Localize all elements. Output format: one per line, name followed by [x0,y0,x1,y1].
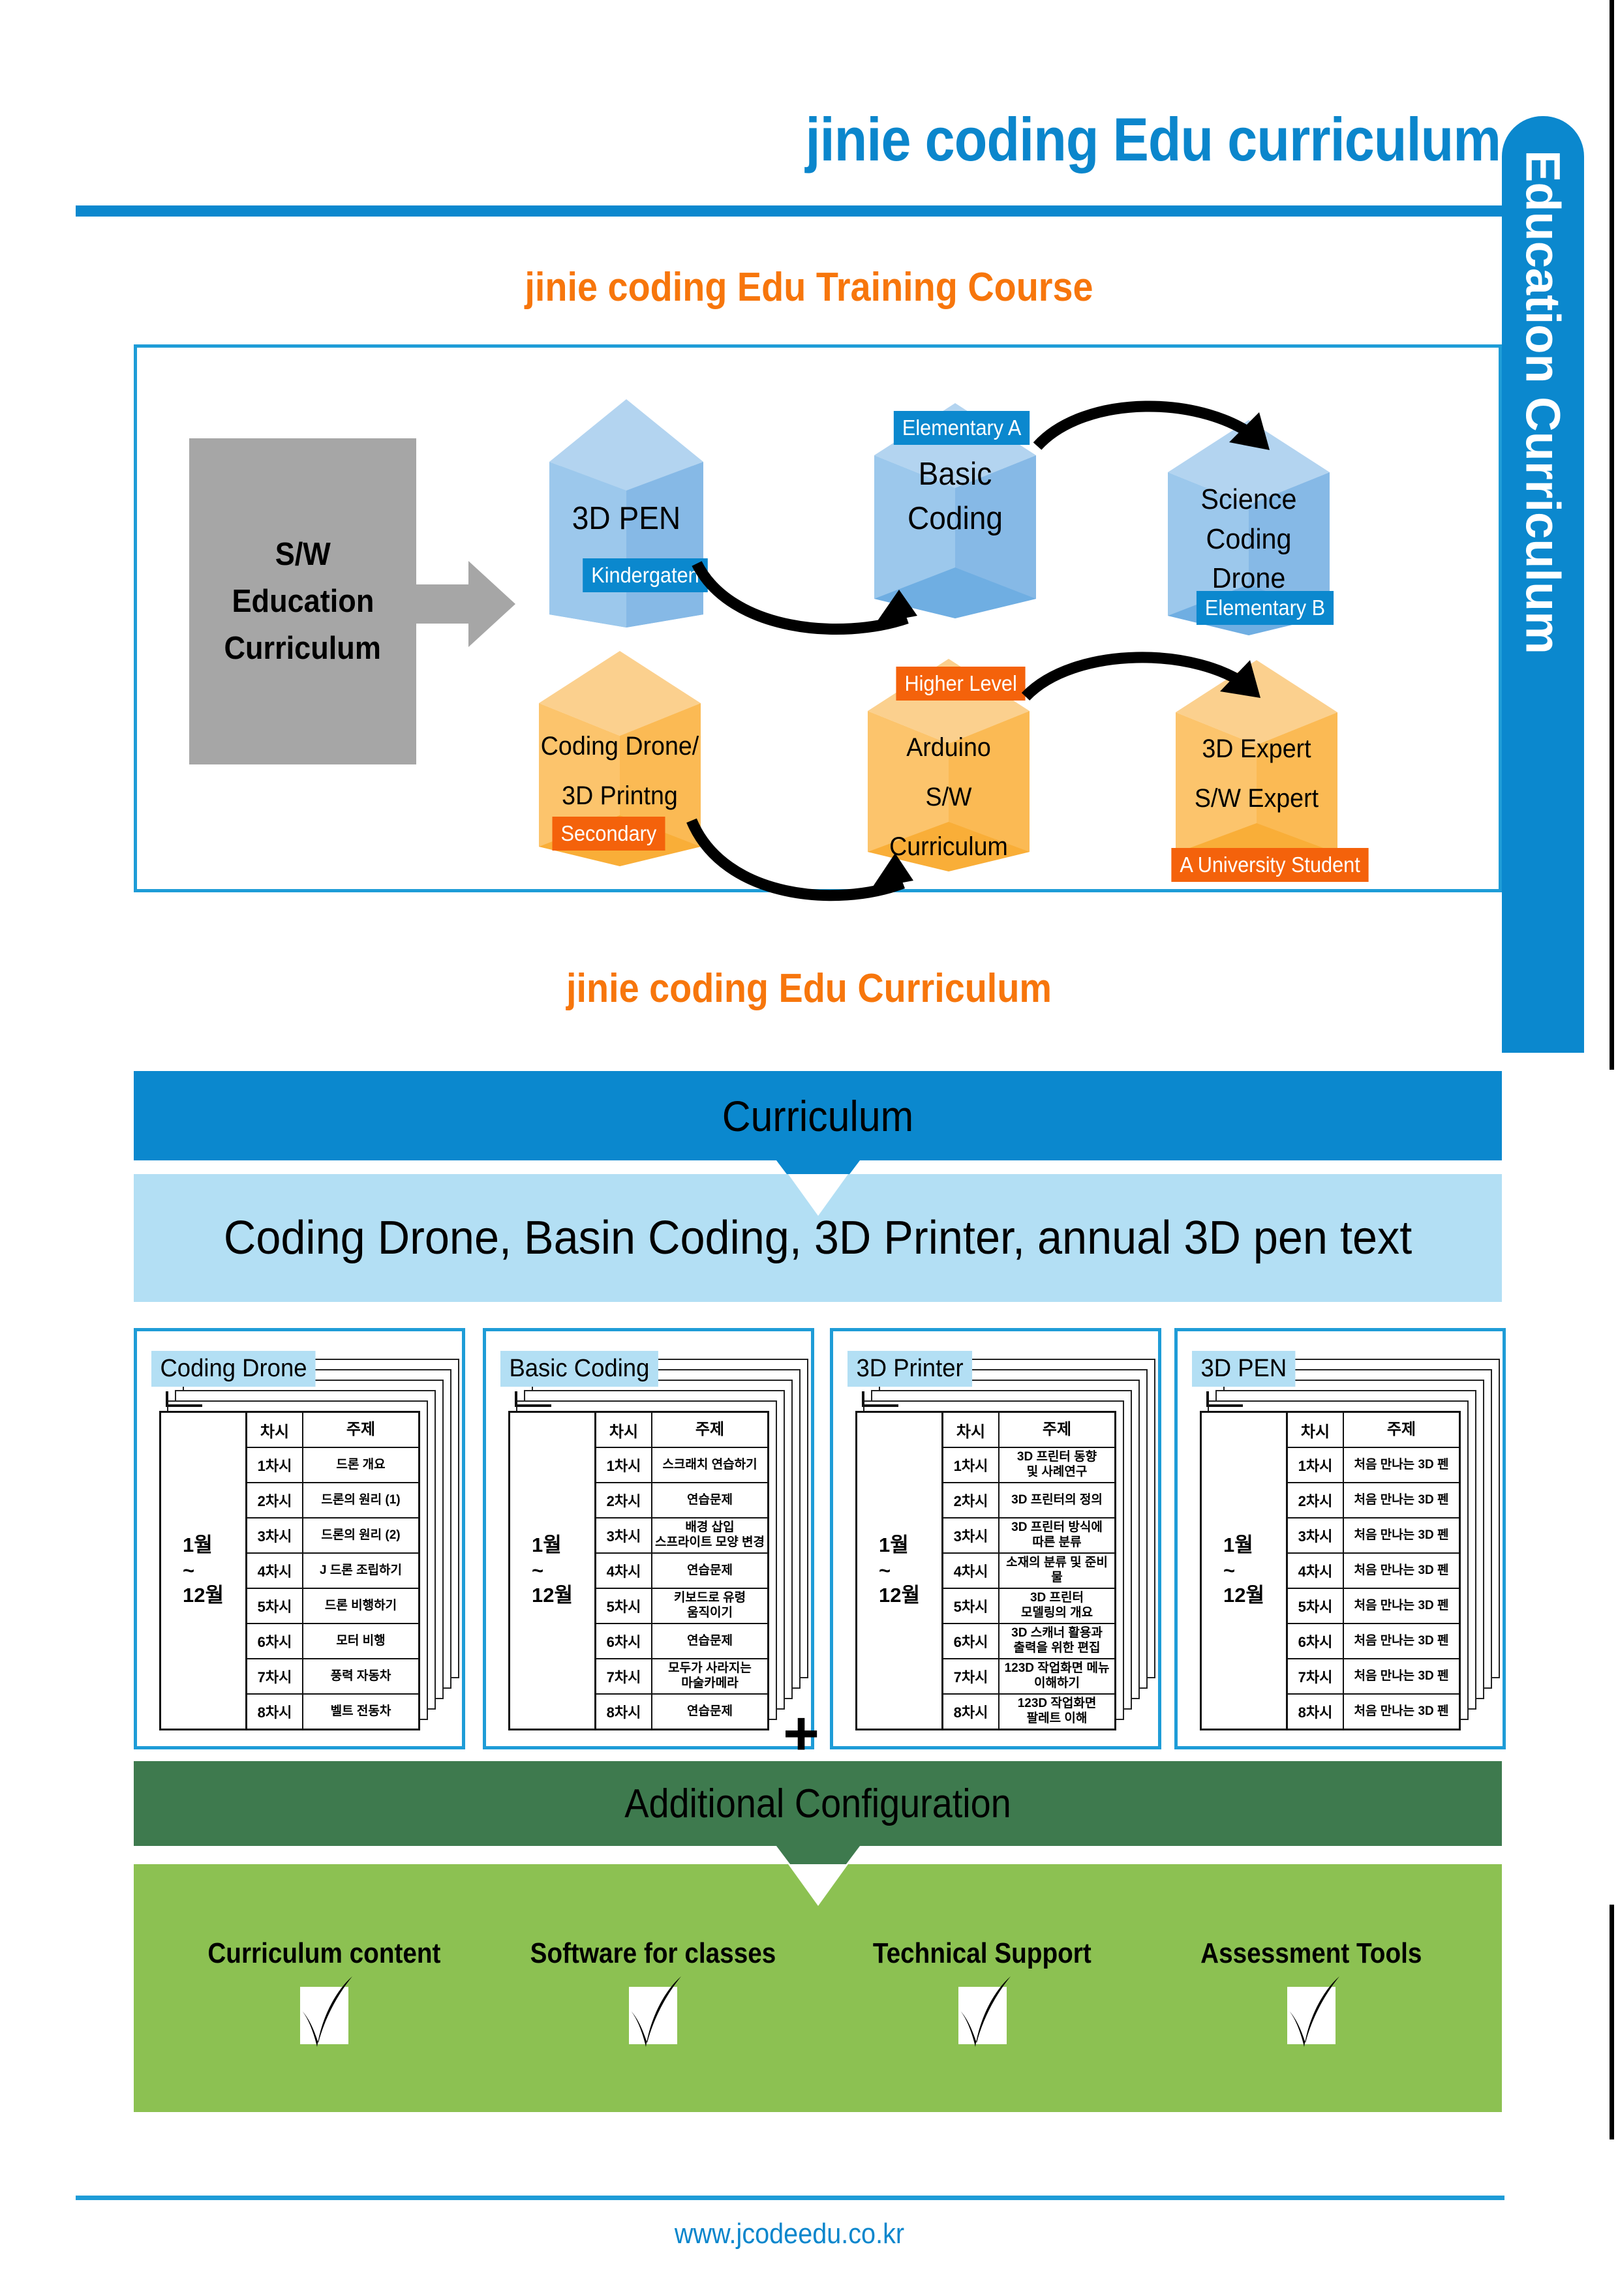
node-expert-title: 3D Expert S/W Expert [1174,724,1339,823]
cell-session: 5차시 [596,1589,652,1623]
additional-config-banner: Additional Configuration [134,1761,1502,1846]
cell-topic: 드론의 원리 (2) [303,1518,418,1552]
cell-session: 8차시 [247,1695,303,1729]
cell-session: 3차시 [596,1518,652,1552]
table-header-row: 차시 주제 [247,1413,418,1448]
column-header-topic: 주제 [652,1413,767,1447]
check-icon [1278,1975,1346,2053]
table-row: 1차시 드론 개요 [247,1448,418,1483]
cell-topic: 연습문제 [652,1483,767,1517]
cell-session: 2차시 [943,1483,1000,1517]
checkbox[interactable] [1287,1987,1336,2044]
card-title: 3D PEN [1192,1351,1296,1387]
feature-item[interactable]: Technical Support [826,1937,1139,2044]
cell-topic: 드론 비행하기 [303,1589,418,1623]
card-sheet: 1월~12월 차시 주제 1차시 처음 만나는 3D 펜 2차시 처음 만나는 … [1200,1411,1461,1730]
table-row: 7차시 모두가 사라지는 마술카메라 [596,1659,767,1695]
table-row: 7차시 처음 만나는 3D 펜 [1288,1659,1459,1695]
session-table: 차시 주제 1차시 3D 프린터 동향 및 사례연구 2차시 3D 프린터의 정… [943,1413,1114,1729]
curriculum-card[interactable]: 3D Printer 1월~12월 차시 주제 1차시 3D 프린터 동향 및 … [830,1328,1161,1749]
cell-topic: 연습문제 [652,1624,767,1658]
table-row: 2차시 3D 프린터의 정의 [943,1483,1114,1518]
table-row: 5차시 드론 비행하기 [247,1589,418,1624]
card-title: Basic Coding [500,1351,658,1387]
feature-label: Curriculum content [208,1937,441,1970]
curriculum-subtitle-notch [788,1174,848,1216]
card-sheet: 1월~12월 차시 주제 1차시 3D 프린터 동향 및 사례연구 2차시 3D… [855,1411,1116,1730]
cell-topic: 처음 만나는 3D 펜 [1344,1659,1459,1693]
cell-session: 6차시 [596,1624,652,1658]
cell-session: 1차시 [943,1448,1000,1482]
table-row: 3차시 처음 만나는 3D 펜 [1288,1518,1459,1554]
sw-block-line-2: Education [232,583,374,620]
check-icon [949,1975,1017,2053]
footer-url[interactable]: www.jcodeedu.co.kr [79,2218,1500,2250]
cell-topic: 처음 만나는 3D 펜 [1344,1448,1459,1482]
header-divider [76,205,1504,217]
cell-session: 4차시 [943,1554,1000,1588]
table-row: 8차시 벨트 전동차 [247,1695,418,1729]
cell-topic: 드론 개요 [303,1448,418,1482]
cell-topic: 모두가 사라지는 마술카메라 [652,1659,767,1693]
node-basic-coding-tag: Elementary A [894,411,1030,445]
cell-session: 2차시 [247,1483,303,1517]
table-row: 2차시 처음 만나는 3D 펜 [1288,1483,1459,1518]
cell-topic: 123D 작업화면 팔레트 이해 [1000,1695,1114,1729]
cell-topic: 키보드로 유령 움직이기 [652,1589,767,1623]
cell-topic: 처음 만나는 3D 펜 [1344,1518,1459,1552]
cell-session: 1차시 [596,1448,652,1482]
cell-topic: J 드론 조립하기 [303,1554,418,1588]
table-row: 2차시 드론의 원리 (1) [247,1483,418,1518]
table-header-row: 차시 주제 [596,1413,767,1448]
table-row: 4차시 연습문제 [596,1554,767,1589]
card-sheet: 1월~12월 차시 주제 1차시 드론 개요 2차시 드론의 원리 (1) 3차… [159,1411,420,1730]
table-row: 7차시 풍력 자동차 [247,1659,418,1695]
cell-topic: 연습문제 [652,1554,767,1588]
check-icon [291,1975,359,2053]
session-table: 차시 주제 1차시 드론 개요 2차시 드론의 원리 (1) 3차시 드론의 원… [247,1413,418,1729]
cell-session: 7차시 [247,1659,303,1693]
month-range: 1월~12월 [510,1413,596,1729]
training-course-heading: jinie coding Edu Training Course [187,264,1431,310]
side-tab[interactable]: Education Curriculum [1502,116,1584,1053]
session-table: 차시 주제 1차시 스크래치 연습하기 2차시 연습문제 3차시 배경 삽입 스… [596,1413,767,1729]
table-row: 5차시 키보드로 유령 움직이기 [596,1589,767,1624]
column-header-topic: 주제 [1000,1413,1114,1447]
feature-label: Technical Support [873,1937,1091,1970]
cell-topic: 배경 삽입 스프라이트 모양 변경 [652,1518,767,1552]
cell-topic: 연습문제 [652,1695,767,1729]
additional-config-title: Additional Configuration [202,1761,1433,1846]
table-header-row: 차시 주제 [1288,1413,1459,1448]
cell-topic: 3D 프린터 방식에 따른 분류 [1000,1518,1114,1552]
cell-session: 5차시 [247,1589,303,1623]
flow-arrow-icon [398,561,515,647]
checkbox[interactable] [629,1987,677,2044]
cell-session: 3차시 [247,1518,303,1552]
feature-item[interactable]: Software for classes [496,1937,810,2044]
cell-topic: 소재의 분류 및 준비물 [1000,1554,1114,1588]
cell-topic: 처음 만나는 3D 펜 [1344,1695,1459,1729]
table-row: 8차시 연습문제 [596,1695,767,1729]
node-arduino-tag: Higher Level [896,667,1025,701]
column-header-topic: 주제 [303,1413,418,1447]
curriculum-heading: jinie coding Edu Curriculum [187,965,1431,1012]
month-range: 1월~12월 [1202,1413,1288,1729]
node-coding-drone-title: Coding Drone/ 3D Printng [538,721,702,821]
feature-label: Software for classes [530,1937,776,1970]
table-row: 4차시 소재의 분류 및 준비물 [943,1554,1114,1589]
table-row: 1차시 처음 만나는 3D 펜 [1288,1448,1459,1483]
column-header-session: 차시 [247,1413,303,1447]
card-title: Coding Drone [151,1351,316,1387]
cell-topic: 처음 만나는 3D 펜 [1344,1589,1459,1623]
cell-topic: 벨트 전동차 [303,1695,418,1729]
table-row: 1차시 스크래치 연습하기 [596,1448,767,1483]
node-3d-pen-tag: Kindergaten [583,558,708,592]
cell-topic: 풍력 자동차 [303,1659,418,1693]
curriculum-subtitle-banner: Coding Drone, Basin Coding, 3D Printer, … [134,1174,1502,1302]
cell-topic: 3D 스캐너 활용과 출력을 위한 편집 [1000,1624,1114,1658]
session-table: 차시 주제 1차시 처음 만나는 3D 펜 2차시 처음 만나는 3D 펜 3차… [1288,1413,1459,1729]
checkbox[interactable] [958,1987,1007,2044]
table-header-row: 차시 주제 [943,1413,1114,1448]
side-tab-label: Education Curriculum [1516,150,1571,654]
right-edge-gap-upper [1605,1070,1618,1905]
column-header-session: 차시 [596,1413,652,1447]
curriculum-card[interactable]: 3D PEN 1월~12월 차시 주제 1차시 처음 만나는 3D 펜 2차시 … [1174,1328,1506,1749]
cell-topic: 처음 만나는 3D 펜 [1344,1483,1459,1517]
table-row: 6차시 모터 비행 [247,1624,418,1659]
arrow-arduino-to-expert-icon [1022,643,1296,734]
cell-topic: 처음 만나는 3D 펜 [1344,1554,1459,1588]
arrow-secondary-to-arduino-icon [686,815,960,908]
cell-topic: 모터 비행 [303,1624,418,1658]
additional-config-body-notch [788,1864,848,1906]
column-header-session: 차시 [943,1413,1000,1447]
node-science-drone-tag: Elementary B [1197,591,1334,625]
table-row: 6차시 3D 스캐너 활용과 출력을 위한 편집 [943,1624,1114,1659]
table-row: 7차시 123D 작업화면 메뉴 이해하기 [943,1659,1114,1695]
table-row: 4차시 처음 만나는 3D 펜 [1288,1554,1459,1589]
cell-session: 4차시 [247,1554,303,1588]
card-sheet: 1월~12월 차시 주제 1차시 스크래치 연습하기 2차시 연습문제 3차시 … [508,1411,769,1730]
table-row: 4차시 J 드론 조립하기 [247,1554,418,1589]
cell-session: 3차시 [943,1518,1000,1552]
table-row: 8차시 123D 작업화면 팔레트 이해 [943,1695,1114,1729]
feature-list: Curriculum content Software for classes … [134,1937,1502,2044]
cell-session: 2차시 [1288,1483,1344,1517]
cell-session: 1차시 [1288,1448,1344,1482]
table-row: 5차시 3D 프린터 모델링의 개요 [943,1589,1114,1624]
cell-session: 5차시 [943,1589,1000,1623]
table-row: 6차시 처음 만나는 3D 펜 [1288,1624,1459,1659]
card-title: 3D Printer [847,1351,972,1387]
month-range: 1월~12월 [857,1413,943,1729]
node-basic-coding-title: Basic Coding [873,453,1037,541]
table-row: 8차시 처음 만나는 3D 펜 [1288,1695,1459,1729]
cell-topic: 123D 작업화면 메뉴 이해하기 [1000,1659,1114,1693]
poster-page: jinie coding Edu curriculum Education Cu… [0,0,1618,2288]
right-edge-gap-lower [1605,2139,1618,2296]
cell-session: 1차시 [247,1448,303,1482]
cell-session: 8차시 [943,1695,1000,1729]
cell-session: 8차시 [1288,1695,1344,1729]
node-coding-drone-tag: Secondary [553,817,665,851]
cell-topic: 드론의 원리 (1) [303,1483,418,1517]
table-row: 6차시 연습문제 [596,1624,767,1659]
cell-session: 6차시 [1288,1624,1344,1658]
cell-topic: 스크래치 연습하기 [652,1448,767,1482]
node-3d-pen: 3D PEN [540,399,712,627]
curriculum-card[interactable]: Basic Coding 1월~12월 차시 주제 1차시 스크래치 연습하기 … [483,1328,814,1749]
table-row: 2차시 연습문제 [596,1483,767,1518]
footer-divider [76,2196,1504,2200]
node-science-drone-title: Science Coding Drone [1167,480,1331,599]
feature-item[interactable]: Assessment Tools [1155,1937,1468,2044]
column-header-topic: 주제 [1344,1413,1459,1447]
cell-session: 7차시 [596,1659,652,1693]
cell-session: 4차시 [1288,1554,1344,1588]
cell-session: 8차시 [596,1695,652,1729]
node-expert-tag: A University Student [1171,848,1368,882]
node-3d-pen-title: 3D PEN [545,497,707,541]
arrow-basic-to-science-icon [1033,390,1307,488]
cell-topic: 3D 프린터 동향 및 사례연구 [1000,1448,1114,1482]
sw-block-line-3: Curriculum [224,630,381,667]
sw-block-line-1: S/W [275,536,330,573]
cell-session: 6차시 [247,1624,303,1658]
cell-session: 7차시 [1288,1659,1344,1693]
additional-config-body: Curriculum content Software for classes … [134,1864,1502,2112]
cell-topic: 3D 프린터 모델링의 개요 [1000,1589,1114,1623]
feature-label: Assessment Tools [1200,1937,1422,1970]
curriculum-banner: Curriculum [134,1071,1502,1160]
feature-item[interactable]: Curriculum content [168,1937,481,2044]
cell-session: 6차시 [943,1624,1000,1658]
table-row: 3차시 3D 프린터 방식에 따른 분류 [943,1518,1114,1554]
table-row: 5차시 처음 만나는 3D 펜 [1288,1589,1459,1624]
checkbox[interactable] [300,1987,348,2044]
cell-session: 7차시 [943,1659,1000,1693]
table-row: 3차시 드론의 원리 (2) [247,1518,418,1554]
cell-topic: 처음 만나는 3D 펜 [1344,1624,1459,1658]
cell-topic: 3D 프린터의 정의 [1000,1483,1114,1517]
cell-session: 3차시 [1288,1518,1344,1552]
arrow-pen-to-basic-icon [692,556,966,641]
cell-session: 5차시 [1288,1589,1344,1623]
curriculum-banner-subtitle: Coding Drone, Basin Coding, 3D Printer, … [224,1211,1412,1265]
curriculum-banner-title: Curriculum [189,1071,1447,1160]
check-icon [620,1975,688,2053]
table-row: 1차시 3D 프린터 동향 및 사례연구 [943,1448,1114,1483]
plus-connector: + [783,1702,819,1765]
curriculum-card[interactable]: Coding Drone 1월~12월 차시 주제 1차시 드론 개요 2차시 … [134,1328,465,1749]
cell-session: 2차시 [596,1483,652,1517]
month-range: 1월~12월 [161,1413,247,1729]
table-row: 3차시 배경 삽입 스프라이트 모양 변경 [596,1518,767,1554]
page-title: jinie coding Edu curriculum [180,104,1501,175]
cell-session: 4차시 [596,1554,652,1588]
sw-education-curriculum-block: S/W Education Curriculum [189,438,416,764]
column-header-session: 차시 [1288,1413,1344,1447]
